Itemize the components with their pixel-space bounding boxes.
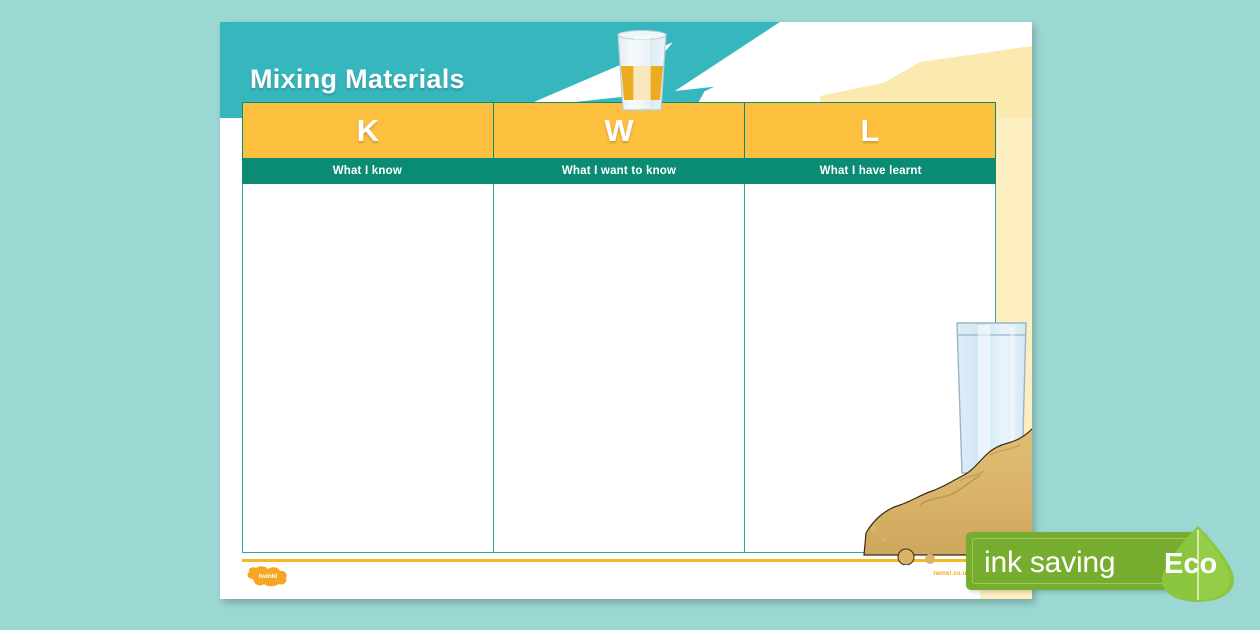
kwl-subtitle-cell-l: What I have learnt xyxy=(745,158,996,184)
kwl-subtitle-cell-w: What I want to know xyxy=(494,158,746,184)
eco-badge-eco-label: Eco xyxy=(1164,548,1217,581)
kwl-writing-area-w[interactable] xyxy=(494,184,745,552)
kwl-subtitle-cell-k: What I know xyxy=(242,158,494,184)
kwl-letter-cell-k: K xyxy=(243,103,494,158)
glass-of-liquid-icon xyxy=(606,26,678,114)
worksheet-page: Mixing Materials xyxy=(220,22,1032,599)
ink-saving-eco-badge: ink saving Eco xyxy=(966,524,1260,602)
twinkl-url-text: twinkl.co.uk xyxy=(910,571,970,580)
svg-text:twinkl: twinkl xyxy=(259,573,278,580)
page-title: Mixing Materials xyxy=(250,64,465,95)
kwl-subtitle-header-row: What I know What I want to know What I h… xyxy=(242,158,996,184)
eco-badge-ink-saving-label: ink saving xyxy=(984,546,1115,580)
kwl-letter-w: W xyxy=(604,115,633,146)
kwl-subtitle-l: What I have learnt xyxy=(820,165,922,177)
twinkl-logo: twinkl xyxy=(245,565,291,587)
kwl-letter-cell-l: L xyxy=(745,103,995,158)
kwl-subtitle-k: What I know xyxy=(333,165,402,177)
kwl-writing-area-k[interactable] xyxy=(243,184,494,552)
kwl-letter-l: L xyxy=(861,115,880,146)
kwl-letter-k: K xyxy=(357,115,379,146)
kwl-subtitle-w: What I want to know xyxy=(562,165,676,177)
